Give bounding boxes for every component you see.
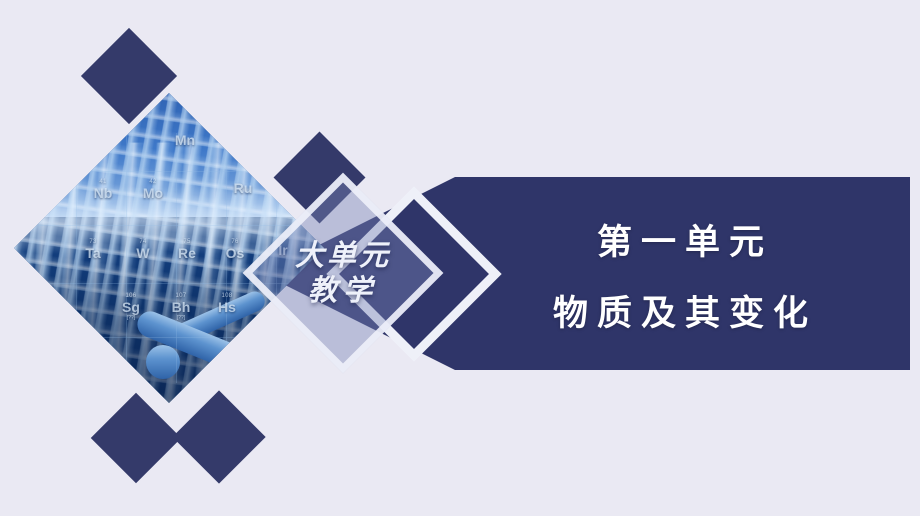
slide-canvas: Zr 41 Nb 42 Mo Ru Rh Mn (0, 0, 920, 516)
element-cell: 41 Nb (82, 179, 124, 201)
element-cell: 76 Os (214, 239, 256, 261)
element-cell: 106 Sg [??] (110, 293, 152, 322)
element-cell: 108 Hs (206, 293, 248, 315)
element-cell: 74 W (122, 239, 164, 261)
element-cell: 107 Bh [??] (160, 293, 202, 322)
decorative-diamond-bottom-right (172, 390, 265, 483)
decorative-diamond-bottom-left (91, 393, 182, 484)
element-cell: 73 Ta (72, 239, 114, 261)
element-cell: 42 Mo (132, 179, 174, 201)
element-cell: Ru (222, 181, 264, 196)
element-cell: 75 Re (166, 239, 208, 261)
element-cell: Zr (32, 187, 74, 202)
element-cell: Mn (164, 133, 206, 148)
